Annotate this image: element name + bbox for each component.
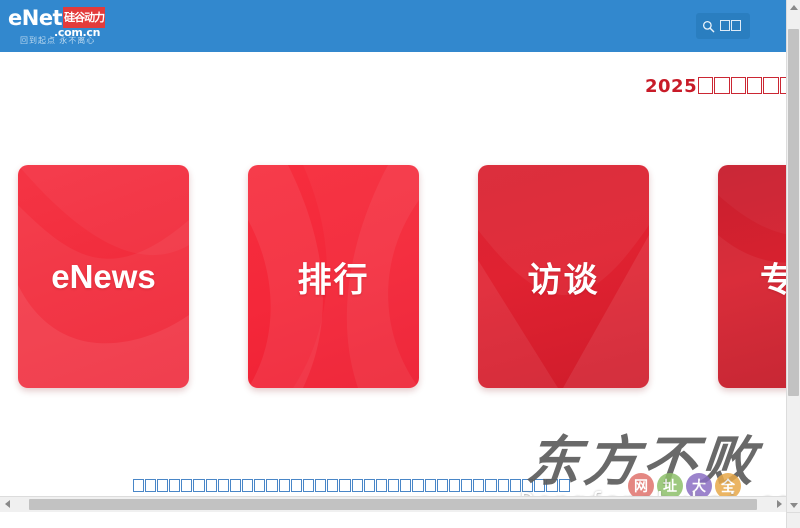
missing-glyph-box xyxy=(388,479,399,491)
vertical-scrollbar-thumb[interactable] xyxy=(788,29,799,397)
missing-glyph-box xyxy=(364,479,375,491)
missing-glyph-box xyxy=(731,77,746,94)
footer-caption xyxy=(132,478,570,494)
horizontal-scrollbar-thumb[interactable] xyxy=(29,499,757,510)
missing-glyph-box xyxy=(559,479,570,491)
missing-glyph-box xyxy=(510,479,521,491)
missing-glyph-box xyxy=(720,20,730,31)
vertical-scrollbar[interactable] xyxy=(786,0,800,512)
card-label: 排行 xyxy=(248,252,419,301)
missing-glyph-box xyxy=(242,479,253,491)
missing-glyph-box xyxy=(279,479,290,491)
card-enews[interactable]: eNews xyxy=(18,165,189,388)
missing-glyph-box xyxy=(218,479,229,491)
promo-heading: 2025 xyxy=(645,76,786,97)
missing-glyph-box xyxy=(534,479,545,491)
site-logo[interactable]: eNet硅谷动力 .com.cn 回到起点 永不离心 xyxy=(8,7,108,43)
card-interview[interactable]: 访谈 xyxy=(478,165,649,388)
missing-glyph-box xyxy=(352,479,363,491)
missing-glyph-box xyxy=(327,479,338,491)
scroll-down-arrow-icon[interactable] xyxy=(787,498,800,512)
missing-glyph-box xyxy=(412,479,423,491)
missing-glyph-box xyxy=(133,479,144,491)
card-ranking[interactable]: 排行 xyxy=(248,165,419,388)
missing-glyph-box xyxy=(731,20,741,31)
card-label: eNews xyxy=(18,258,189,296)
category-card-row: eNews 排行 访谈 专 xyxy=(0,165,786,389)
missing-glyph-box xyxy=(498,479,509,491)
missing-glyph-box xyxy=(449,479,460,491)
missing-glyph-box xyxy=(206,479,217,491)
page-viewport: eNet硅谷动力 .com.cn 回到起点 永不离心 2025 eNews xyxy=(0,0,786,512)
missing-glyph-box xyxy=(145,479,156,491)
missing-glyph-box xyxy=(437,479,448,491)
promo-title xyxy=(697,76,786,97)
missing-glyph-box xyxy=(763,77,778,94)
horizontal-scrollbar[interactable] xyxy=(0,496,786,512)
search-input[interactable] xyxy=(696,13,750,39)
missing-glyph-box xyxy=(376,479,387,491)
logo-badge-text: 硅谷动力 xyxy=(63,7,105,28)
search-placeholder xyxy=(719,19,742,33)
missing-glyph-box xyxy=(169,479,180,491)
missing-glyph-box xyxy=(485,479,496,491)
promo-year: 2025 xyxy=(645,76,697,97)
missing-glyph-box xyxy=(303,479,314,491)
missing-glyph-box xyxy=(400,479,411,491)
logo-tagline: 回到起点 永不离心 xyxy=(20,35,95,46)
missing-glyph-box xyxy=(714,77,729,94)
missing-glyph-box xyxy=(230,479,241,491)
card-special[interactable]: 专 xyxy=(718,165,786,388)
missing-glyph-box xyxy=(266,479,277,491)
missing-glyph-box xyxy=(747,77,762,94)
missing-glyph-box xyxy=(546,479,557,491)
scrollbar-corner xyxy=(786,512,800,528)
missing-glyph-box xyxy=(291,479,302,491)
missing-glyph-box xyxy=(473,479,484,491)
missing-glyph-box xyxy=(522,479,533,491)
missing-glyph-box xyxy=(339,479,350,491)
scroll-up-arrow-icon[interactable] xyxy=(787,0,800,14)
site-header: eNet硅谷动力 .com.cn 回到起点 永不离心 xyxy=(0,0,786,52)
missing-glyph-box xyxy=(157,479,168,491)
search-icon xyxy=(702,20,715,33)
missing-glyph-box xyxy=(254,479,265,491)
missing-glyph-box xyxy=(181,479,192,491)
scroll-right-arrow-icon[interactable] xyxy=(772,497,786,511)
card-label: 访谈 xyxy=(478,252,649,301)
missing-glyph-box xyxy=(193,479,204,491)
missing-glyph-box xyxy=(425,479,436,491)
card-label: 专 xyxy=(718,252,786,301)
scroll-left-arrow-icon[interactable] xyxy=(0,497,14,511)
missing-glyph-box xyxy=(698,77,713,94)
missing-glyph-box xyxy=(461,479,472,491)
missing-glyph-box xyxy=(315,479,326,491)
